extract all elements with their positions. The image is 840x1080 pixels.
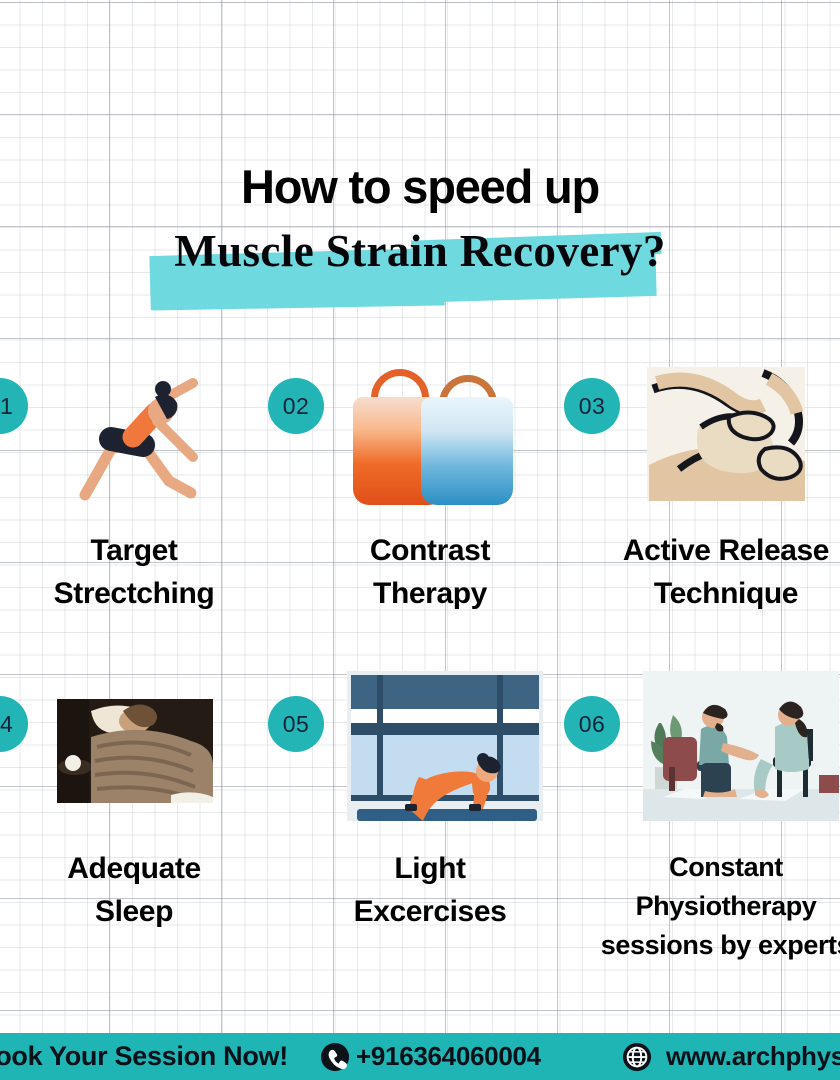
- poster-subtitle-wrap: Muscle Strain Recovery?: [164, 225, 676, 277]
- sleeping-person-illustration: [51, 671, 217, 831]
- globe-icon: [622, 1042, 652, 1072]
- phone-icon: [320, 1042, 350, 1072]
- step-badge-03: 03: [564, 378, 620, 434]
- tip-art-06: 06: [550, 670, 840, 832]
- footer-cta-text: Book Your Session Now!: [0, 1041, 288, 1072]
- footer-phone-number: +916364060004: [356, 1041, 541, 1072]
- step-badge-01: 01: [0, 378, 28, 434]
- tip-label-03: Active Release Technique: [550, 530, 840, 615]
- footer-website-group[interactable]: www.archphysio.in: [622, 1041, 840, 1072]
- contact-footer: Book Your Session Now! +916364060004 www…: [0, 1033, 840, 1080]
- physiotherapy-session-illustration: [643, 671, 809, 831]
- tips-grid: 01: [0, 0, 840, 1080]
- floor-exercise-illustration: [347, 671, 513, 831]
- footer-website-url: www.archphysio.in: [666, 1041, 840, 1072]
- step-badge-02: 02: [268, 378, 324, 434]
- step-badge-05: 05: [268, 696, 324, 752]
- infographic-poster: How to speed up Muscle Strain Recovery? …: [0, 0, 840, 1080]
- massage-therapy-illustration: [643, 353, 809, 513]
- yoga-stretch-illustration: [51, 353, 217, 513]
- poster-title-line2: Muscle Strain Recovery?: [174, 226, 666, 276]
- tip-item-03: 03: [550, 352, 840, 615]
- tip-label-06: Constant Physiotherapy sessions by exper…: [550, 848, 840, 965]
- hot-cold-packs-illustration: [347, 353, 513, 513]
- footer-phone-group[interactable]: +916364060004: [320, 1041, 541, 1072]
- tip-art-03: 03: [550, 352, 840, 514]
- tip-item-06: 06: [550, 670, 840, 965]
- step-badge-06: 06: [564, 696, 620, 752]
- step-badge-04: 04: [0, 696, 28, 752]
